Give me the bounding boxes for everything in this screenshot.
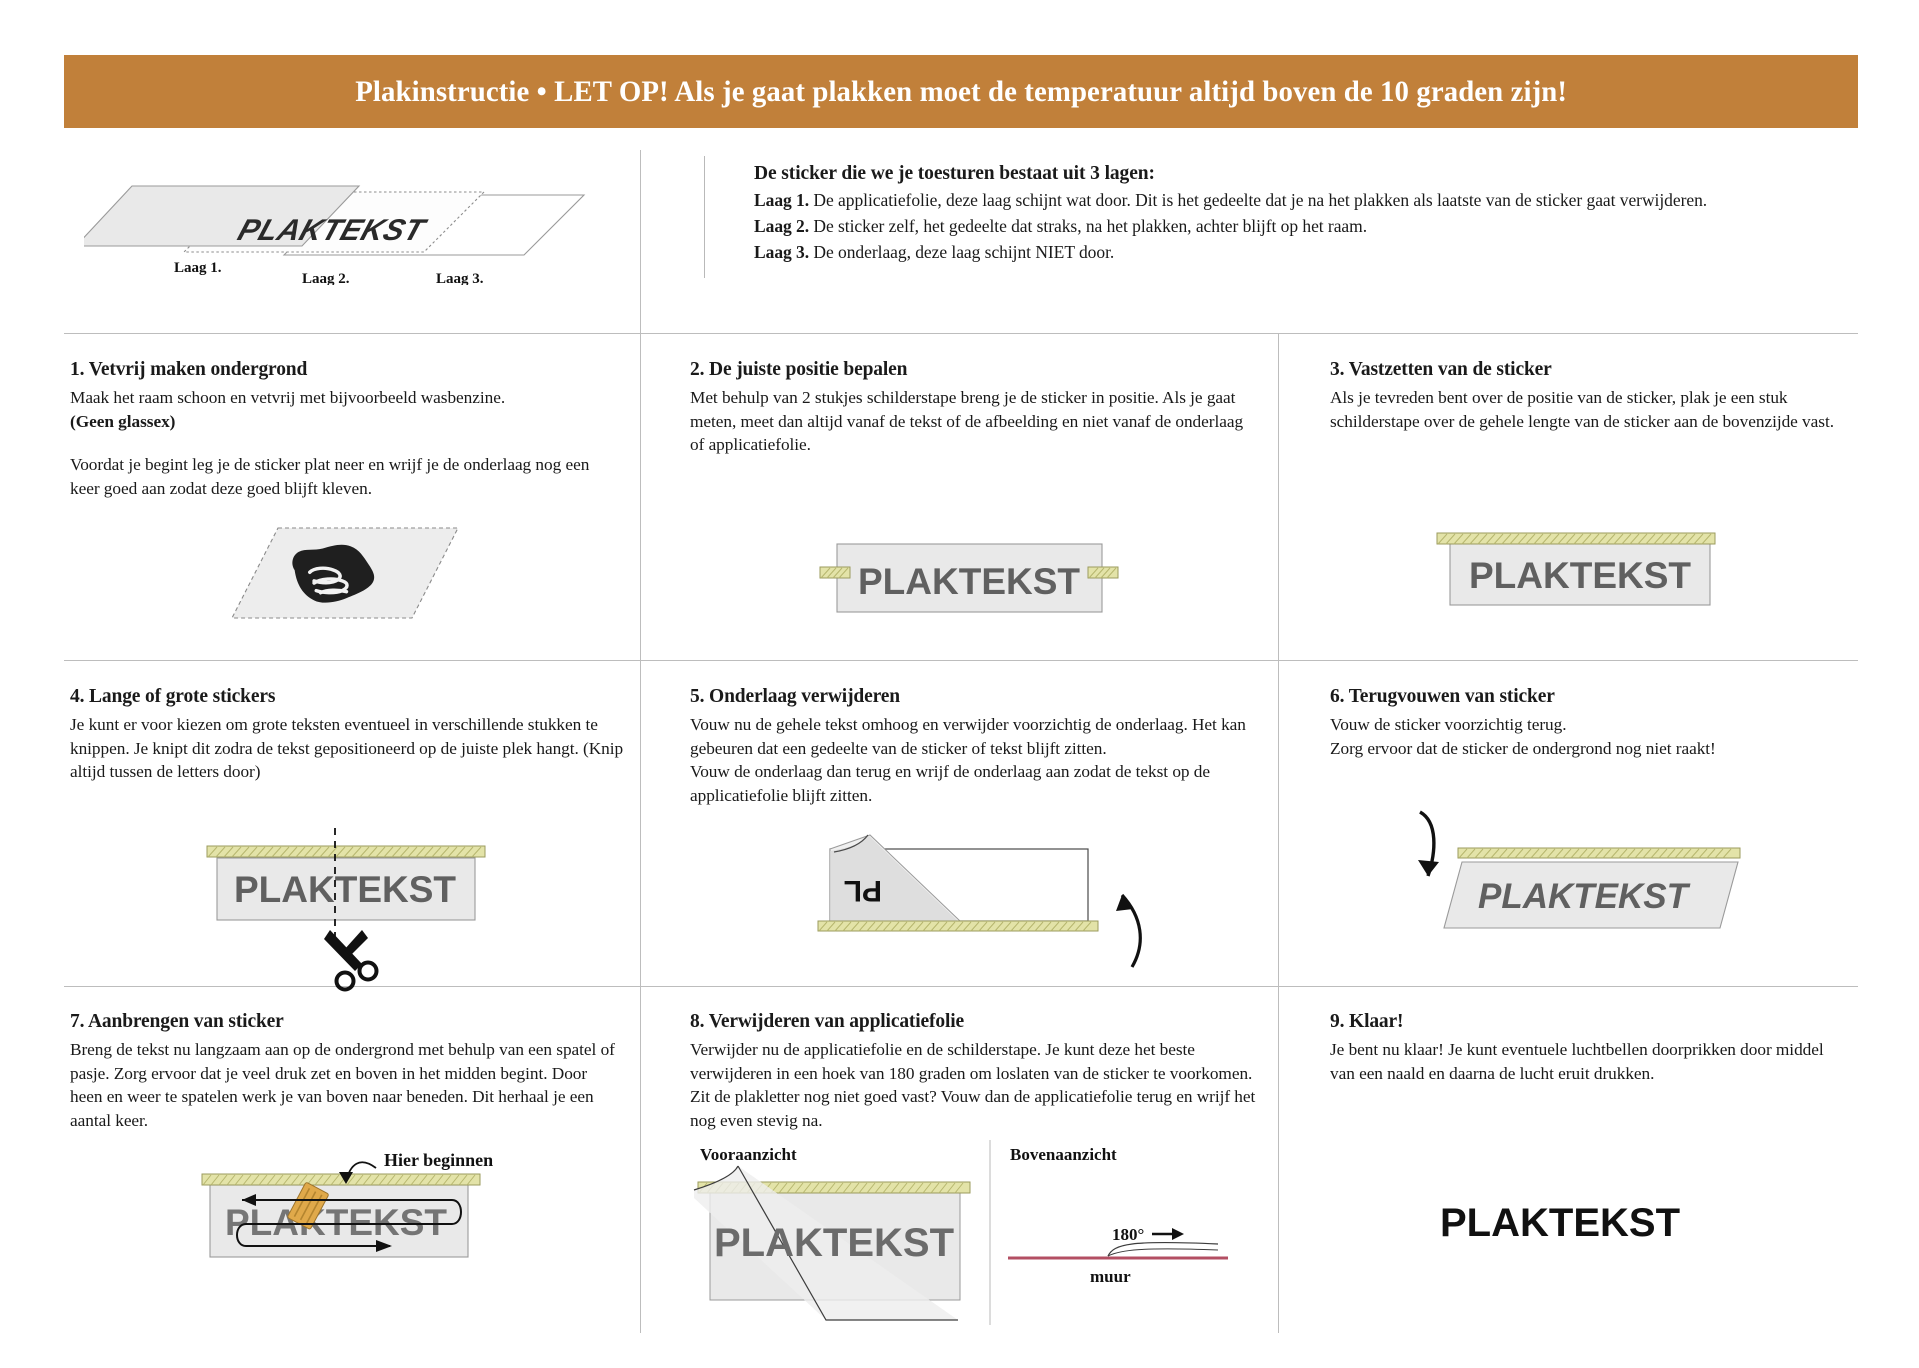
layer-caption-3: Laag 3. (436, 271, 484, 285)
front-view-label: Vooraanzicht (700, 1145, 797, 1164)
step-5-body: Vouw nu de gehele tekst omhoog en verwij… (690, 713, 1255, 807)
step-4-sticker-word: PLAKTEKST (234, 869, 456, 910)
curved-arrow-down-icon (1418, 812, 1439, 876)
step-6-body: Vouw de sticker voorzichtig terug. Zorg … (1330, 713, 1850, 760)
step-9-figure: PLAKTEKST (1440, 1190, 1740, 1260)
tape-strip-top-icon (207, 846, 485, 857)
tape-strip-top-icon (1437, 533, 1715, 544)
step-2: 2. De juiste positie bepalen Met behulp … (690, 358, 1250, 457)
row-rule-2 (64, 660, 1858, 661)
scissors-icon (324, 930, 377, 990)
intro-layer-2-text: De sticker zelf, het gedeelte dat straks… (813, 216, 1367, 236)
angle-arrow-icon (1152, 1228, 1184, 1240)
step-7-figure: PLAKTEKST Hier beginnen (180, 1130, 520, 1265)
step-3-heading: 3. Vastzetten van de sticker (1330, 358, 1850, 382)
step-5-para-2: Vouw de onderlaag dan terug en wrijf de … (690, 760, 1255, 807)
step-6-heading: 6. Terugvouwen van sticker (1330, 685, 1850, 709)
step-9-body: Je bent nu klaar! Je kunt eventuele luch… (1330, 1038, 1850, 1085)
step-6-para-1: Vouw de sticker voorzichtig terug. (1330, 713, 1850, 737)
tape-strip-bottom-icon (818, 921, 1098, 931)
angle-label: 180° (1112, 1225, 1144, 1244)
tape-piece-left-icon (820, 567, 850, 578)
layer-caption-2: Laag 2. (302, 271, 350, 285)
layer-caption-1: Laag 1. (174, 260, 222, 276)
step-7-para-1: Breng de tekst nu langzaam aan op de ond… (70, 1038, 615, 1132)
step-2-heading: 2. De juiste positie bepalen (690, 358, 1250, 382)
row-rule-3 (64, 986, 1858, 987)
layer-diagram-sticker-word: PLAKTEKST (234, 213, 431, 247)
intro-layer-1-text: De applicatiefolie, deze laag schijnt wa… (813, 190, 1707, 210)
header-banner: Plakinstructie • LET OP! Als je gaat pla… (64, 55, 1858, 128)
step-4: 4. Lange of grote stickers Je kunt er vo… (70, 685, 625, 784)
page-title: Plakinstructie • LET OP! Als je gaat pla… (355, 75, 1567, 109)
layer-diagram: PLAKTEKST Laag 1. Laag 2. Laag 3. (84, 150, 684, 285)
step-3: 3. Vastzetten van de sticker Als je tevr… (1330, 358, 1850, 433)
step-1-para-2: (Geen glassex) (70, 412, 175, 431)
step-4-heading: 4. Lange of grote stickers (70, 685, 625, 709)
step-6-sticker-word: PLAKTEKST (1478, 877, 1691, 916)
step-8-heading: 8. Verwijderen van applicatiefolie (690, 1010, 1260, 1034)
step-5-para-1: Vouw nu de gehele tekst omhoog en verwij… (690, 713, 1255, 760)
step-5-heading: 5. Onderlaag verwijderen (690, 685, 1255, 709)
step-5: 5. Onderlaag verwijderen Vouw nu de gehe… (690, 685, 1255, 807)
step-1-figure (230, 520, 480, 630)
step-3-sticker-word: PLAKTEKST (1469, 555, 1691, 596)
row-rule-1 (64, 333, 1858, 334)
col-rule-1 (640, 150, 641, 1333)
intro-heading: De sticker die we je toesturen bestaat u… (754, 160, 1914, 188)
step-8-para-1: Verwijder nu de applicatiefolie en de sc… (690, 1038, 1260, 1132)
intro-text-block: De sticker die we je toesturen bestaat u… (754, 160, 1914, 265)
col-rule-2 (1278, 333, 1279, 1333)
plakinstructie-page: Plakinstructie • LET OP! Als je gaat pla… (0, 0, 1919, 1368)
intro-layer-3: Laag 3. De onderlaag, deze laag schijnt … (754, 240, 1914, 266)
step-3-figure: PLAKTEKST (1435, 528, 1725, 618)
tape-piece-right-icon (1088, 567, 1118, 578)
step-8: 8. Verwijderen van applicatiefolie Verwi… (690, 1010, 1260, 1132)
step-1-para-1: Maak het raam schoon en vetvrij met bijv… (70, 386, 610, 410)
step-2-body: Met behulp van 2 stukjes schilderstape b… (690, 386, 1250, 457)
step-7-sticker-word: PLAKTEKST (225, 1202, 447, 1243)
step-4-figure: PLAKTEKST (185, 820, 505, 985)
step-5-figure: PL (790, 825, 1170, 970)
step-8-figure: Vooraanzicht PLAKTEKST Bovenaanzicht 180… (690, 1140, 1270, 1330)
step-9-sticker-word: PLAKTEKST (1440, 1201, 1680, 1245)
tape-strip-top-icon (202, 1174, 480, 1185)
step-6-para-2: Zorg ervoor dat de sticker de ondergrond… (1330, 737, 1850, 761)
intro-section: PLAKTEKST Laag 1. Laag 2. Laag 3. De sti… (64, 150, 1858, 285)
step-4-para-1: Je kunt er voor kiezen om grote teksten … (70, 713, 625, 784)
step-7-heading: 7. Aanbrengen van sticker (70, 1010, 615, 1034)
step-6-figure: PLAKTEKST (1390, 800, 1800, 945)
wall-label: muur (1090, 1267, 1131, 1286)
intro-layer-3-text: De onderlaag, deze laag schijnt NIET doo… (813, 242, 1114, 262)
step-8-sticker-word: PLAKTEKST (714, 1221, 954, 1265)
intro-layer-1: Laag 1. De applicatiefolie, deze laag sc… (754, 188, 1914, 214)
intro-layer-2: Laag 2. De sticker zelf, het gedeelte da… (754, 214, 1914, 240)
film-peel-bottom-edge (1108, 1249, 1218, 1256)
curved-arrow-up-icon (1116, 895, 1140, 967)
tape-strip-top-icon (1458, 848, 1740, 858)
step-6: 6. Terugvouwen van sticker Vouw de stick… (1330, 685, 1850, 760)
step-9-para-1: Je bent nu klaar! Je kunt eventuele luch… (1330, 1038, 1850, 1085)
intro-layer-3-label: Laag 3. (754, 242, 809, 262)
step-9-heading: 9. Klaar! (1330, 1010, 1850, 1034)
intro-vertical-rule (704, 156, 705, 278)
step-7-annotation-label: Hier beginnen (384, 1150, 493, 1170)
step-1-heading: 1. Vetvrij maken ondergrond (70, 358, 610, 382)
step-1-para-3: Voordat je begint leg je de sticker plat… (70, 453, 610, 500)
step-5-mirrored-text: PL (844, 874, 882, 907)
step-2-sticker-word: PLAKTEKST (858, 561, 1080, 602)
step-7-body: Breng de tekst nu langzaam aan op de ond… (70, 1038, 615, 1132)
step-4-body: Je kunt er voor kiezen om grote teksten … (70, 713, 625, 784)
step-3-body: Als je tevreden bent over de positie van… (1330, 386, 1850, 433)
intro-layer-1-label: Laag 1. (754, 190, 809, 210)
step-3-para-1: Als je tevreden bent over de positie van… (1330, 386, 1850, 433)
top-view-label: Bovenaanzicht (1010, 1145, 1117, 1164)
step-2-para-1: Met behulp van 2 stukjes schilderstape b… (690, 386, 1250, 457)
step-9: 9. Klaar! Je bent nu klaar! Je kunt even… (1330, 1010, 1850, 1085)
intro-layer-2-label: Laag 2. (754, 216, 809, 236)
step-1: 1. Vetvrij maken ondergrond Maak het raa… (70, 358, 610, 500)
step-8-body: Verwijder nu de applicatiefolie en de sc… (690, 1038, 1260, 1132)
step-2-figure: PLAKTEKST (820, 540, 1120, 630)
step-1-body: Maak het raam schoon en vetvrij met bijv… (70, 386, 610, 500)
step-7: 7. Aanbrengen van sticker Breng de tekst… (70, 1010, 615, 1132)
